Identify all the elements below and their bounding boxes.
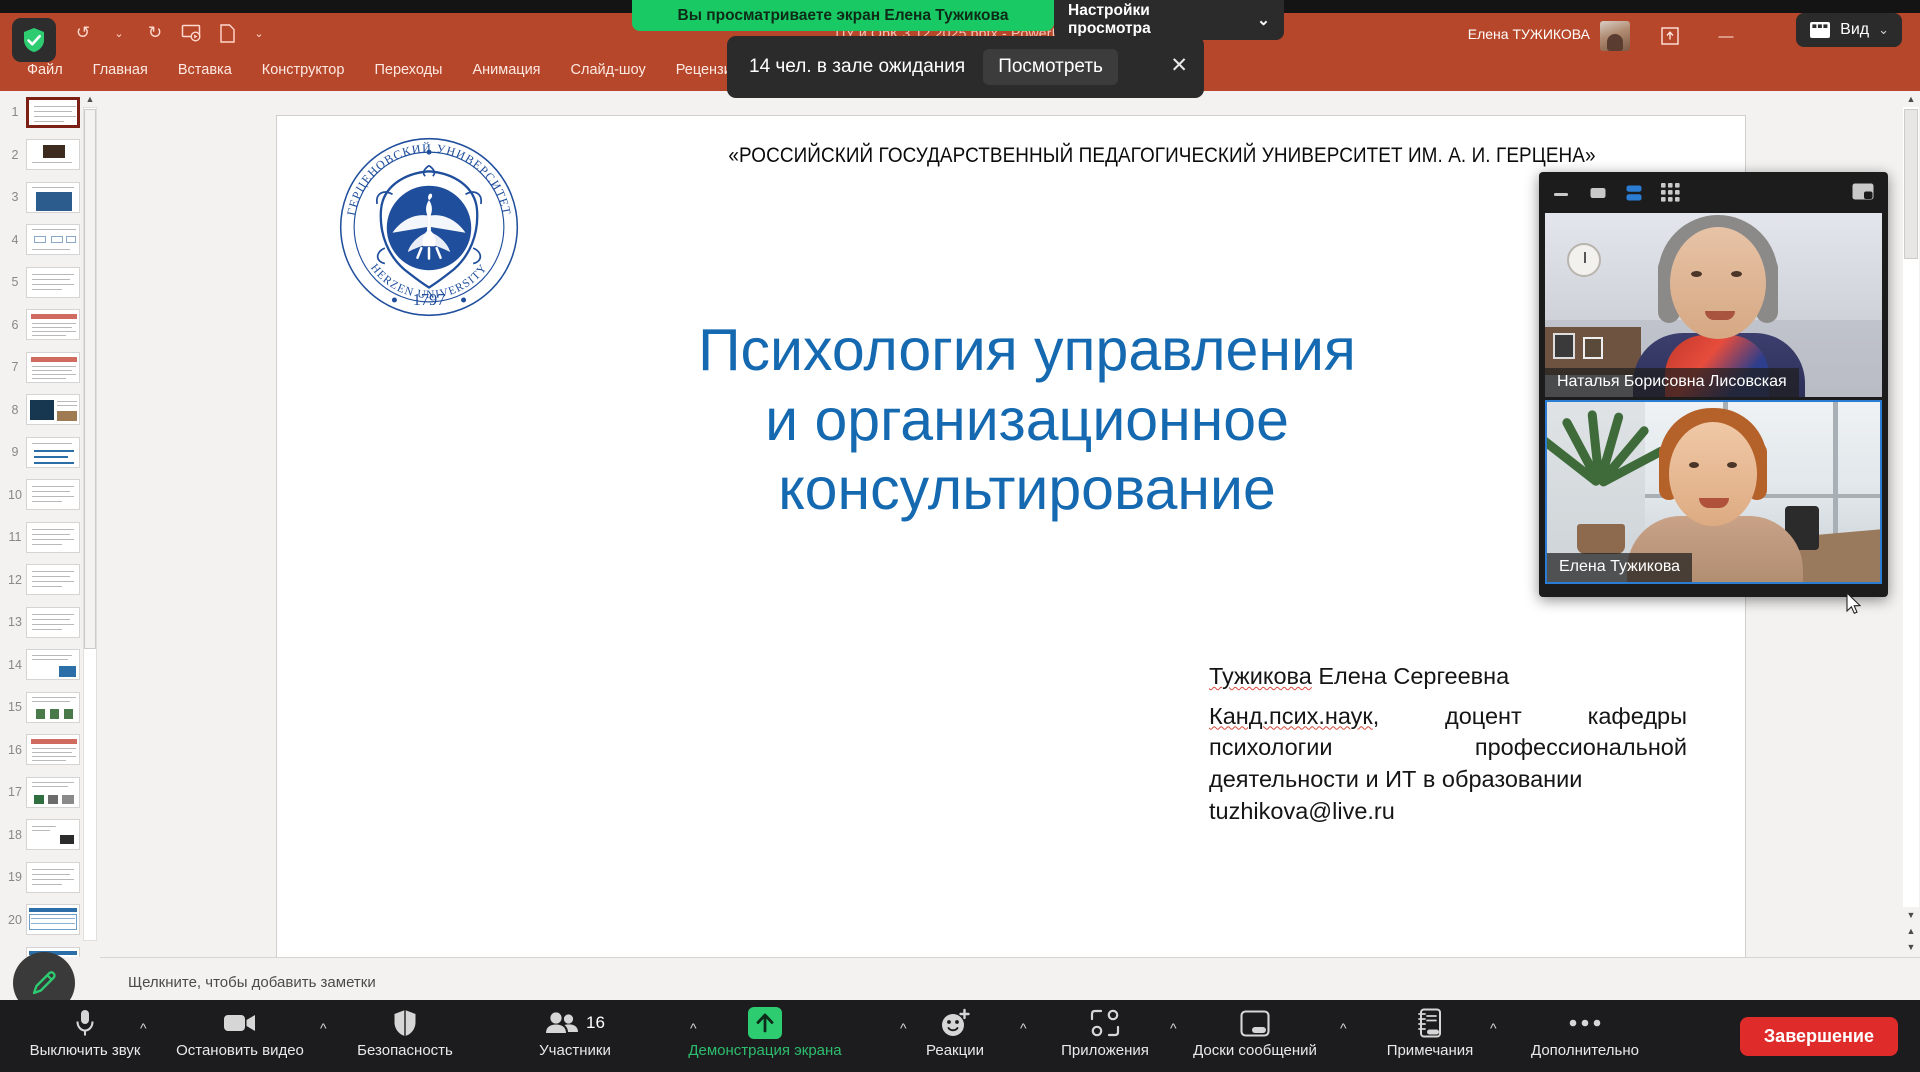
share-screen-icon bbox=[745, 1004, 785, 1042]
slide-title-line-2: и организационное bbox=[457, 386, 1597, 456]
thumb-scroll-up-icon[interactable]: ▲ bbox=[83, 91, 97, 106]
toolbar-security-button[interactable]: Безопасность bbox=[330, 1004, 480, 1059]
slide-number: 4 bbox=[4, 233, 26, 247]
slide-thumbnail-preview[interactable] bbox=[26, 394, 80, 425]
participant-tile[interactable]: Наталья Борисовна Лисовская bbox=[1545, 213, 1882, 397]
toolbar-video-chevron-up-icon[interactable]: ^ bbox=[320, 1020, 327, 1036]
slide-thumbnail-preview[interactable] bbox=[26, 182, 80, 213]
toolbar-mute-label: Выключить звук bbox=[30, 1042, 141, 1059]
slide-title-line-1: Психология управления bbox=[457, 316, 1597, 386]
slide-number: 1 bbox=[4, 105, 26, 119]
tab-home[interactable]: Главная bbox=[80, 57, 161, 84]
shield-icon bbox=[393, 1004, 417, 1042]
slide-thumbnail-preview[interactable] bbox=[26, 139, 80, 170]
speaker-view-icon[interactable] bbox=[1625, 184, 1643, 202]
tab-animations[interactable]: Анимация bbox=[459, 57, 553, 84]
slide-thumbnail-preview[interactable] bbox=[26, 522, 80, 553]
toolbar-whiteboards-chevron-up-icon[interactable]: ^ bbox=[1340, 1020, 1347, 1036]
author-position-line: Канд.псих.наук, доцент кафедры психологи… bbox=[1209, 701, 1687, 796]
participant-name: Елена Тужикова bbox=[1547, 553, 1692, 582]
toolbar-apps-chevron-up-icon[interactable]: ^ bbox=[1170, 1020, 1177, 1036]
next-slide-icon[interactable]: ▼ bbox=[1903, 939, 1919, 955]
toolbar-security-label: Безопасность bbox=[357, 1042, 453, 1059]
slide-thumbnail-preview[interactable] bbox=[26, 734, 80, 765]
author-given-names: Елена Сергеевна bbox=[1312, 663, 1509, 689]
slide-thumbnail-preview[interactable] bbox=[26, 649, 80, 680]
end-meeting-button[interactable]: Завершение bbox=[1740, 1017, 1898, 1056]
slide-number: 21 bbox=[4, 955, 26, 957]
waiting-room-message: 14 чел. в зале ожидания bbox=[749, 56, 965, 78]
view-caret-icon[interactable]: ⌄ bbox=[1878, 22, 1889, 38]
toolbar-apps-button[interactable]: Приложения bbox=[1030, 1004, 1180, 1059]
security-shield-icon[interactable] bbox=[12, 18, 56, 62]
slide-number: 7 bbox=[4, 360, 26, 374]
slide-number: 20 bbox=[4, 913, 26, 927]
toolbar-more-button[interactable]: Дополнительно bbox=[1510, 1004, 1660, 1059]
toolbar-share-button[interactable]: Демонстрация экрана bbox=[690, 1004, 840, 1059]
more-icon bbox=[1568, 1004, 1602, 1042]
current-slide[interactable]: ГЕРЦЕНОВСКИЙ УНИВЕРСИТЕТ HERZEN UNIVERSI… bbox=[276, 115, 1746, 967]
thumbnail-scrollbar[interactable]: ▲ bbox=[82, 91, 98, 957]
slide-title: Психология управления и организационное … bbox=[457, 316, 1597, 525]
waiting-room-view-button[interactable]: Посмотреть bbox=[983, 49, 1118, 85]
slide-thumbnail-preview[interactable] bbox=[26, 607, 80, 638]
tab-insert[interactable]: Вставка bbox=[165, 57, 245, 84]
chevron-down-icon[interactable]: ⌄ bbox=[1257, 11, 1270, 30]
toolbar-more-label: Дополнительно bbox=[1531, 1042, 1639, 1059]
view-button-label: Вид bbox=[1840, 21, 1869, 39]
participant-tile[interactable]: Елена Тужикова bbox=[1545, 400, 1882, 584]
toolbar-notes-button[interactable]: Примечания bbox=[1355, 1004, 1505, 1059]
thumb-scroll-handle[interactable] bbox=[84, 109, 96, 649]
tab-slideshow[interactable]: Слайд-шоу bbox=[558, 57, 659, 84]
slide-scroll-up-icon[interactable]: ▲ bbox=[1903, 91, 1919, 107]
mouse-cursor bbox=[1846, 592, 1862, 620]
author-email: tuzhikova@live.ru bbox=[1209, 796, 1687, 828]
slide-vertical-scrollbar[interactable]: ▲ ▼ ▲ ▼ bbox=[1902, 91, 1920, 957]
minimize-icon[interactable] bbox=[1553, 187, 1571, 199]
slide-number: 11 bbox=[4, 530, 26, 544]
slide-thumbnail-preview[interactable] bbox=[26, 437, 80, 468]
slide-thumbnail-preview[interactable] bbox=[26, 309, 80, 340]
toolbar-reactions-label: Реакции bbox=[926, 1042, 984, 1059]
slide-thumbnail-preview[interactable] bbox=[26, 564, 80, 595]
view-button[interactable]: Вид ⌄ bbox=[1796, 13, 1902, 47]
slide-thumbnail-preview[interactable] bbox=[26, 819, 80, 850]
slide-number: 2 bbox=[4, 148, 26, 162]
apps-icon bbox=[1090, 1004, 1120, 1042]
avatar[interactable] bbox=[1600, 21, 1630, 51]
slide-number: 15 bbox=[4, 700, 26, 714]
toolbar-participants-label: Участники bbox=[539, 1042, 611, 1059]
toolbar-notes-chevron-up-icon[interactable]: ^ bbox=[1490, 1020, 1497, 1036]
popout-video-icon[interactable] bbox=[1852, 183, 1874, 200]
toolbar-mute-chevron-up-icon[interactable]: ^ bbox=[140, 1020, 147, 1036]
microphone-icon bbox=[74, 1004, 96, 1042]
screen-root: ↺ ⌄ ↻ ⌄ ПУ и ОрК 3.12.2025.pptx - PowerP… bbox=[0, 0, 1920, 1072]
reactions-icon bbox=[939, 1004, 971, 1042]
slide-number: 16 bbox=[4, 743, 26, 757]
slide-university-header: «РОССИЙСКИЙ ГОСУДАРСТВЕННЫЙ ПЕДАГОГИЧЕСК… bbox=[682, 143, 1641, 168]
slide-thumbnail-preview[interactable] bbox=[26, 479, 80, 510]
toolbar-share-label: Демонстрация экрана bbox=[688, 1042, 841, 1059]
tab-design[interactable]: Конструктор bbox=[249, 57, 358, 84]
previous-slide-icon[interactable]: ▲ bbox=[1903, 923, 1919, 939]
toolbar-mute-button[interactable]: Выключить звук bbox=[10, 1004, 160, 1059]
slide-number: 19 bbox=[4, 870, 26, 884]
author-surname: Тужикова bbox=[1209, 663, 1312, 689]
slide-number: 5 bbox=[4, 275, 26, 289]
ppt-account-name: Елена ТУЖИКОВА bbox=[1468, 26, 1590, 42]
gallery-view-icon[interactable] bbox=[1661, 183, 1680, 202]
svg-text:1797: 1797 bbox=[413, 290, 446, 309]
screen-share-banner-text: Вы просматриваете экран Елена Тужикова bbox=[678, 7, 1009, 25]
slide-title-line-3: консультирование bbox=[457, 455, 1597, 525]
tab-transitions[interactable]: Переходы bbox=[361, 57, 455, 84]
toolbar-notes-label: Примечания bbox=[1387, 1042, 1474, 1059]
toolbar-whiteboards-button[interactable]: Доски сообщений bbox=[1180, 1004, 1330, 1059]
screen-share-banner: Вы просматриваете экран Елена Тужикова bbox=[632, 0, 1054, 31]
pencil-annotation-icon bbox=[27, 966, 61, 1000]
ribbon-display-options-icon[interactable] bbox=[1652, 23, 1688, 49]
slide-number: 12 bbox=[4, 573, 26, 587]
slide-scroll-down-icon[interactable]: ▼ bbox=[1903, 907, 1919, 923]
toolbar-whiteboards-label: Доски сообщений bbox=[1193, 1042, 1317, 1059]
slide-thumbnail-preview[interactable] bbox=[26, 692, 80, 723]
slide-thumbnail-preview[interactable] bbox=[26, 224, 80, 255]
slide-thumbnail-preview[interactable] bbox=[26, 97, 80, 128]
toolbar-apps-label: Приложения bbox=[1061, 1042, 1149, 1059]
video-panel-header bbox=[1539, 172, 1888, 213]
slide-number: 13 bbox=[4, 615, 26, 629]
view-settings-button[interactable]: Настройки просмотра ⌄ bbox=[1054, 0, 1284, 40]
slide-number: 14 bbox=[4, 658, 26, 672]
slide-number: 6 bbox=[4, 318, 26, 332]
slide-number: 3 bbox=[4, 190, 26, 204]
grid-view-icon bbox=[1809, 21, 1831, 39]
notes-placeholder: Щелкните, чтобы добавить заметки bbox=[128, 974, 376, 991]
slide-thumbnail-preview[interactable] bbox=[26, 904, 80, 935]
toolbar-reactions-button[interactable]: Реакции bbox=[880, 1004, 1030, 1059]
close-icon[interactable]: ✕ bbox=[1170, 53, 1188, 78]
slide-thumbnail-preview[interactable] bbox=[26, 267, 80, 298]
author-degree: Канд.псих.наук bbox=[1209, 703, 1373, 729]
notes-icon bbox=[1417, 1004, 1443, 1042]
toolbar-video-button[interactable]: Остановить видео bbox=[165, 1004, 315, 1059]
participants-count: 16 bbox=[586, 1013, 605, 1033]
toolbar-participants-button[interactable]: 16Участники bbox=[500, 1004, 650, 1059]
slide-number: 9 bbox=[4, 445, 26, 459]
toolbar-video-label: Остановить видео bbox=[176, 1042, 304, 1059]
participant-name: Наталья Борисовна Лисовская bbox=[1545, 368, 1799, 397]
view-settings-label: Настройки просмотра bbox=[1068, 2, 1235, 38]
slide-number: 17 bbox=[4, 785, 26, 799]
single-speaker-view-icon[interactable] bbox=[1589, 186, 1607, 200]
camera-icon bbox=[223, 1004, 257, 1042]
slide-scroll-handle[interactable] bbox=[1904, 109, 1918, 259]
slide-number: 18 bbox=[4, 828, 26, 842]
slide-author-block: Тужикова Елена Сергеевна Канд.псих.наук,… bbox=[1209, 661, 1687, 828]
waiting-room-toast: 14 чел. в зале ожидания Посмотреть ✕ bbox=[727, 36, 1204, 98]
slide-thumbnail-preview[interactable] bbox=[26, 777, 80, 808]
slide-thumbnail-preview[interactable] bbox=[26, 352, 80, 383]
zoom-meeting-toolbar: Выключить звук^Остановить видео^Безопасн… bbox=[0, 1000, 1920, 1072]
slide-number: 8 bbox=[4, 403, 26, 417]
herzen-university-seal: ГЕРЦЕНОВСКИЙ УНИВЕРСИТЕТ HERZEN UNIVERSI… bbox=[333, 131, 525, 323]
zoom-video-panel[interactable]: Наталья Борисовна Лисовская bbox=[1539, 172, 1888, 597]
slide-number: 10 bbox=[4, 488, 26, 502]
author-name-line: Тужикова Елена Сергеевна bbox=[1209, 661, 1687, 693]
minimize-window-button[interactable]: — bbox=[1708, 23, 1744, 49]
whiteboard-icon bbox=[1240, 1004, 1270, 1042]
slide-thumbnail-preview[interactable] bbox=[26, 862, 80, 893]
toolbar-reactions-chevron-up-icon[interactable]: ^ bbox=[1020, 1020, 1027, 1036]
participants-icon: 16 bbox=[545, 1004, 605, 1042]
